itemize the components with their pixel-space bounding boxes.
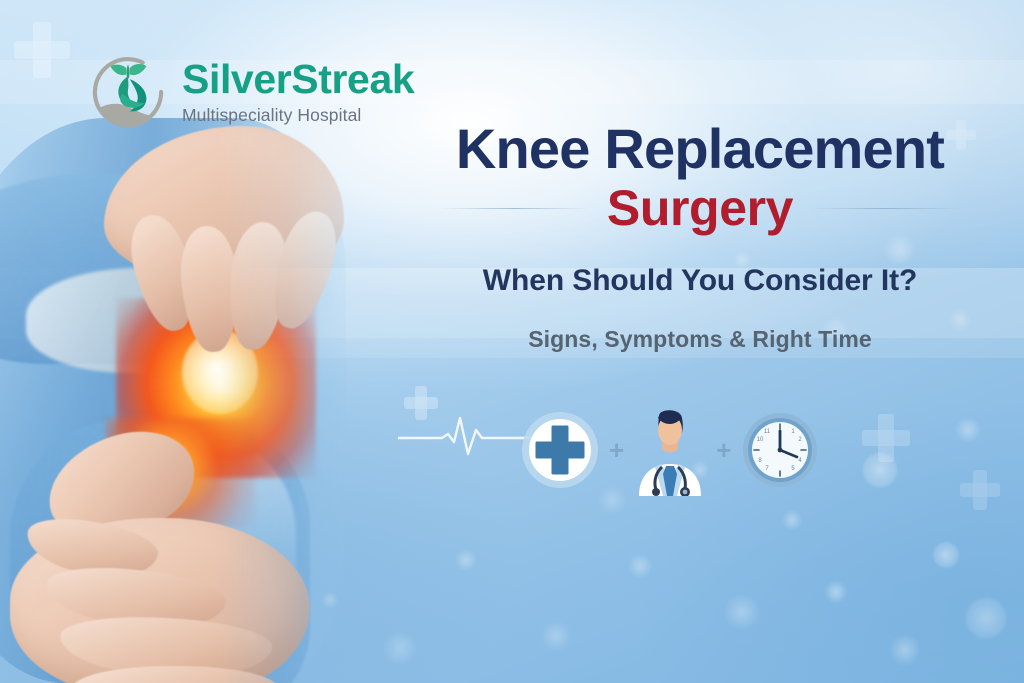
- page-title: Knee Replacement: [376, 120, 1024, 177]
- subheadline: When Should You Consider It?: [376, 264, 1024, 298]
- svg-text:11: 11: [764, 429, 771, 435]
- brand-name: SilverStreak: [182, 59, 414, 100]
- medical-cross-watermark-icon: [862, 414, 910, 462]
- medical-cross-watermark-icon: [14, 22, 70, 78]
- leaf-in-hand-circle-logo-icon: [82, 46, 174, 138]
- medical-cross-badge-icon: [520, 410, 600, 490]
- headline-accent-row: Surgery: [376, 183, 1024, 234]
- secondary-tagline: Signs, Symptoms & Right Time: [376, 326, 1024, 353]
- page-title-accent: Surgery: [607, 183, 793, 234]
- separator-plus: +: [713, 437, 734, 463]
- ekg-heartbeat-icon: [398, 408, 538, 462]
- icon-strip: + + 12: [520, 404, 820, 496]
- headline-block: Knee Replacement Surgery When Should You…: [376, 120, 1024, 353]
- clock-icon: 12 45 78 1011: [740, 410, 820, 490]
- divider-right: [811, 208, 961, 209]
- medical-cross-watermark-icon: [960, 470, 1000, 510]
- knee-pain-xray-photo: [0, 118, 386, 683]
- svg-text:10: 10: [757, 437, 764, 443]
- doctor-icon: [633, 404, 707, 496]
- brand-logo[interactable]: SilverStreak Multispeciality Hospital: [82, 46, 414, 138]
- separator-plus: +: [606, 437, 627, 463]
- knee-replacement-banner: SilverStreak Multispeciality Hospital Kn…: [0, 0, 1024, 683]
- divider-left: [439, 208, 589, 209]
